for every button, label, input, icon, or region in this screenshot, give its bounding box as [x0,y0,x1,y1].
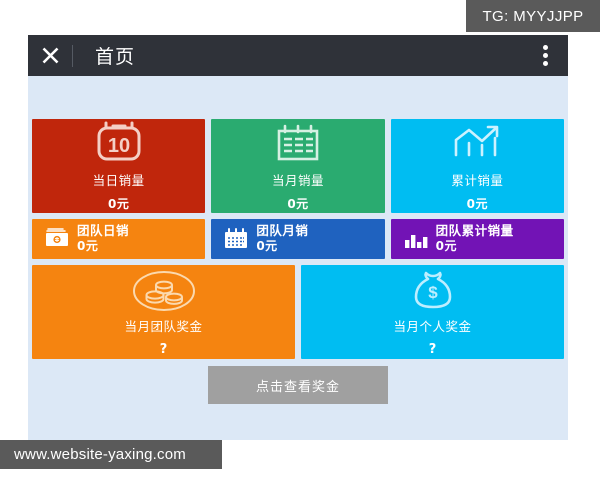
tile-value: ? [160,342,168,357]
tile-value: ? [429,342,437,357]
close-button[interactable] [28,35,72,76]
dashboard-content: 10 当日销量 0元 [28,76,568,440]
calendar-month-icon [272,121,324,165]
overflow-menu-button[interactable] [528,35,562,76]
tile-cumulative-sales[interactable]: 累计销量 0元 [391,119,564,213]
tile-label: 团队月销 [256,223,308,239]
content-top-spacer [32,76,564,119]
bar-chart-icon [401,226,431,252]
tile-label: 当月团队奖金 [124,316,202,335]
trending-up-chart-icon [448,121,506,165]
tile-personal-bonus[interactable]: $ 当月个人奖金 ? [301,265,564,359]
tile-value: 0元 [108,195,129,212]
tile-daily-sales[interactable]: 10 当日销量 0元 [32,119,205,213]
close-icon [41,46,60,65]
svg-text:$: $ [428,283,438,302]
tile-label: 当日销量 [93,170,145,189]
tile-monthly-sales[interactable]: 当月销量 0元 [211,119,384,213]
tile-value: 0元 [436,239,514,255]
bonus-button-row: 点击查看奖金 [32,366,564,404]
tile-team-daily-sales[interactable]: 团队日销 0元 [32,219,205,259]
tile-value: 0元 [467,195,488,212]
calendar-grid-icon [221,226,251,252]
money-note-icon [42,226,72,252]
tile-team-bonus[interactable]: 当月团队奖金 ? [32,265,295,359]
tile-label: 团队日销 [77,223,129,239]
tile-label: 当月销量 [272,170,324,189]
app-screen: TG: MYYJJPP 首页 [0,0,600,480]
tile-team-cumulative-sales[interactable]: 团队累计销量 0元 [391,219,564,259]
tile-value: 0元 [256,239,308,255]
team-tiles-row: 团队日销 0元 [32,219,564,259]
tile-value: 0元 [287,195,308,212]
more-vertical-icon-dot-2 [543,53,548,58]
more-vertical-icon-dot-3 [543,61,548,66]
svg-text:10: 10 [108,135,130,157]
page-title: 首页 [95,42,135,69]
coin-stack-circle-icon [126,268,202,314]
bonus-tiles-row: 当月团队奖金 ? $ 当月个人奖金 ? [32,265,564,359]
tile-label: 当月个人奖金 [393,316,471,335]
tile-label: 累计销量 [451,170,503,189]
sales-tiles-row: 10 当日销量 0元 [32,119,564,213]
tile-value: 0元 [77,239,129,255]
site-watermark: www.website-yaxing.com [0,440,222,469]
view-bonus-button[interactable]: 点击查看奖金 [208,366,388,404]
calendar-day-10-icon: 10 [91,121,147,165]
app-header: 首页 [28,35,568,76]
tile-label: 团队累计销量 [436,223,514,239]
header-divider [72,45,73,67]
more-vertical-icon-dot-1 [543,45,548,50]
tg-watermark-badge: TG: MYYJJPP [466,0,600,32]
tile-team-monthly-sales[interactable]: 团队月销 0元 [211,219,384,259]
app-viewport: 首页 [28,35,568,440]
money-bag-icon: $ [407,268,459,314]
